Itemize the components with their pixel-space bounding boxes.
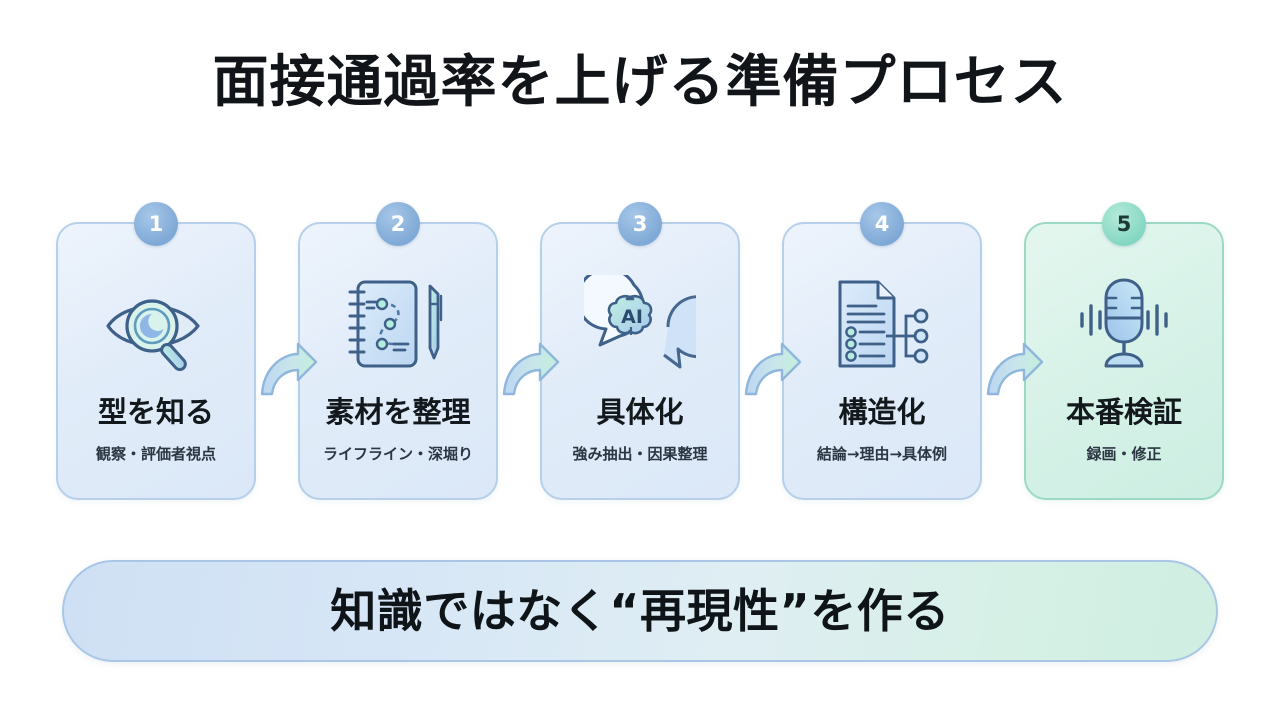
step-title-1: 型を知る <box>58 396 254 429</box>
step-subtitle-2: ライフライン・深堀り <box>300 445 496 463</box>
eye-magnifier-icon <box>58 266 254 382</box>
step-subtitle-3: 強み抽出・因果整理 <box>542 445 738 463</box>
step-subtitle-1: 観察・評価者視点 <box>58 445 254 463</box>
step-title-5: 本番検証 <box>1026 396 1222 429</box>
arrow-step-3-to-4 <box>742 340 804 402</box>
process-steps-row: 1 型を知る 観察・評価者視点 2 <box>56 222 1230 500</box>
document-tree-icon <box>784 266 980 382</box>
step-card-3[interactable]: 3 AI 具体化 強み抽出・因果整理 <box>540 222 740 500</box>
step-card-1[interactable]: 1 型を知る 観察・評価者視点 <box>56 222 256 500</box>
step-number-badge-4: 4 <box>860 202 904 246</box>
step-card-2[interactable]: 2 <box>298 222 498 500</box>
step-number-badge-2: 2 <box>376 202 420 246</box>
step-number-badge-3: 3 <box>618 202 662 246</box>
arrow-step-1-to-2 <box>258 340 320 402</box>
svg-text:AI: AI <box>621 306 643 328</box>
ai-brain-speech-bubble-icon: AI <box>542 266 738 382</box>
slide-canvas: 面接通過率を上げる準備プロセス <box>0 0 1280 720</box>
step-card-4[interactable]: 4 <box>782 222 982 500</box>
summary-banner: 知識ではなく“再現性”を作る <box>62 560 1218 662</box>
notebook-pen-icon <box>300 266 496 382</box>
page-title: 面接通過率を上げる準備プロセス <box>0 52 1280 114</box>
arrow-step-2-to-3 <box>500 340 562 402</box>
step-card-5[interactable]: 5 <box>1024 222 1224 500</box>
arrow-step-4-to-5 <box>984 340 1046 402</box>
step-subtitle-5: 録画・修正 <box>1026 445 1222 463</box>
step-number-badge-1: 1 <box>134 202 178 246</box>
step-title-4: 構造化 <box>784 396 980 429</box>
step-title-2: 素材を整理 <box>300 396 496 429</box>
summary-banner-text: 知識ではなく“再現性”を作る <box>330 588 949 634</box>
step-number-badge-5: 5 <box>1102 202 1146 246</box>
step-title-3: 具体化 <box>542 396 738 429</box>
microphone-icon <box>1026 266 1222 382</box>
step-subtitle-4: 結論→理由→具体例 <box>784 445 980 463</box>
